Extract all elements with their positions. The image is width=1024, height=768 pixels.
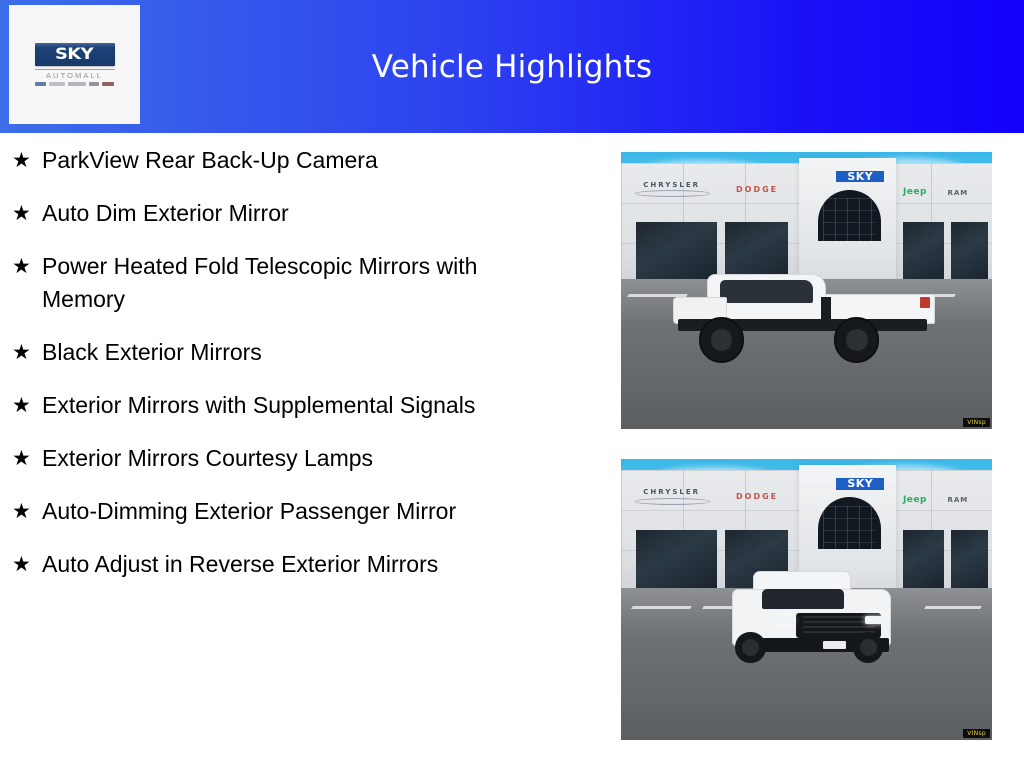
list-item: ★ Exterior Mirrors with Supplemental Sig… [12,389,602,422]
truck-taillight [920,297,930,308]
sign-sky: SKY [836,171,884,182]
vehicle-photo-side[interactable]: SKY CHRYSLER DODGE Jeep RAM [621,152,992,429]
truck-side-profile [673,274,933,352]
window-bay [951,222,988,288]
logo-inner: SKY AUTOMALL [29,43,121,87]
vehicle-highlights-list: ★ ParkView Rear Back-Up Camera ★ Auto Di… [12,144,602,601]
star-icon: ★ [12,548,42,581]
photo-watermark: VINsp [963,729,990,738]
dealership-building: SKY CHRYSLER DODGE Jeep RAM [621,163,992,290]
truck-front-left-wheel [735,632,765,662]
window-bay [903,530,944,597]
sign-dodge: DODGE [736,185,778,194]
sign-chrysler: CHRYSLER [643,181,700,189]
sign-dodge: DODGE [736,492,778,501]
truck-rear-wheel [834,317,880,363]
truck-license-plate [823,641,846,649]
sign-jeep: Jeep [903,187,927,197]
slide-header: SKY AUTOMALL Vehicle Highlights [0,0,1024,133]
logo-brand-strip [33,82,117,86]
list-item-label: Auto Adjust in Reverse Exterior Mirrors [42,548,438,581]
list-item-label: Auto Dim Exterior Mirror [42,197,289,230]
truck-front-right-wheel [853,632,883,662]
star-icon: ★ [12,389,42,422]
dealer-logo: SKY AUTOMALL [9,5,140,124]
dealership-scene: SKY CHRYSLER DODGE Jeep RAM [621,152,992,429]
lot-stripe [631,606,692,609]
window-bay [951,530,988,597]
list-item: ★ Black Exterior Mirrors [12,336,602,369]
list-item-label: ParkView Rear Back-Up Camera [42,144,378,177]
sign-jeep: Jeep [903,495,927,505]
window-bay [636,530,718,597]
star-icon: ★ [12,250,42,283]
truck-headlight-right [865,616,885,625]
truck-side-glass [720,280,813,303]
truck-windshield [762,589,844,609]
list-item-label: Auto-Dimming Exterior Passenger Mirror [42,495,456,528]
logo-divider-rule [35,69,115,70]
logo-subtitle: AUTOMALL [46,72,103,80]
truck-front-wheel [699,317,745,363]
list-item: ★ ParkView Rear Back-Up Camera [12,144,602,177]
star-icon: ★ [12,442,42,475]
sky-wordmark-badge: SKY [35,43,115,66]
slide-root: SKY AUTOMALL Vehicle Highlights ★ ParkVi… [0,0,1024,768]
sign-chrysler: CHRYSLER [643,488,700,496]
list-item-label: Exterior Mirrors with Supplemental Signa… [42,389,475,422]
brand-chip-ram-icon [68,82,86,86]
brand-chip-wagoneer-icon [102,82,114,86]
list-item: ★ Auto-Dimming Exterior Passenger Mirror [12,495,602,528]
sign-ram: RAM [947,189,968,197]
star-icon: ★ [12,197,42,230]
star-icon: ★ [12,495,42,528]
sky-wordmark-text: SKY [55,46,93,62]
brand-chip-jeep-icon [89,82,99,86]
photo-watermark: VINsp [963,418,990,427]
star-icon: ★ [12,336,42,369]
truck-front-three-quarter [721,571,899,669]
list-item: ★ Auto Dim Exterior Mirror [12,197,602,230]
entrance-arch [818,190,881,241]
list-item-label: Power Heated Fold Telescopic Mirrors wit… [42,250,562,316]
list-item: ★ Exterior Mirrors Courtesy Lamps [12,442,602,475]
list-item-label: Black Exterior Mirrors [42,336,262,369]
dealership-scene: SKY CHRYSLER DODGE Jeep RAM [621,459,992,740]
truck-headlight-left [775,616,795,625]
sign-ram: RAM [947,496,968,504]
list-item: ★ Power Heated Fold Telescopic Mirrors w… [12,250,602,316]
page-title: Vehicle Highlights [0,0,1024,133]
lot-stripe [924,606,981,609]
truck-bed-decal [821,297,831,319]
list-item: ★ Auto Adjust in Reverse Exterior Mirror… [12,548,602,581]
entrance-arch [818,497,881,549]
vehicle-photo-front[interactable]: SKY CHRYSLER DODGE Jeep RAM [621,459,992,740]
list-item-label: Exterior Mirrors Courtesy Lamps [42,442,373,475]
sign-sky: SKY [836,478,884,490]
star-icon: ★ [12,144,42,177]
brand-chip-chrysler-icon [35,82,46,86]
brand-chip-dodge-icon [49,82,65,86]
